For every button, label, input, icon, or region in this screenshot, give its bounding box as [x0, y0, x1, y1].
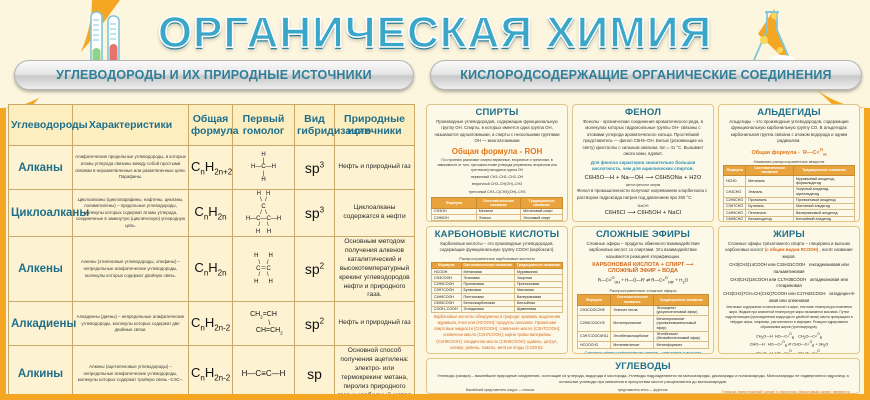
- cell: HCHO: [724, 176, 746, 187]
- table-row: C2H5COOCH3МетилпропаноатМетилпропионат (…: [578, 316, 709, 331]
- table-row: HCHOМетанальМуравьиный альдегид, формаль…: [724, 176, 855, 187]
- cell: Этилацетат (уксусноэтиловый эфир): [654, 305, 709, 316]
- cell-source: Нефть и природный газ: [335, 302, 415, 346]
- cell: C6H5CHO: [724, 216, 746, 222]
- cell-homolog-structure: H—C≡C—H: [233, 346, 295, 400]
- cell-desc: Алифатические предельные углеводороды, в…: [73, 146, 189, 190]
- card-carbohydrates: УГЛЕВОДЫ Углеводы (сахара) – важнейшие п…: [426, 358, 860, 394]
- cell-hybrid: sp3: [295, 146, 335, 190]
- edge-strip-right: [864, 108, 870, 400]
- aldehydes-heading: АЛЬДЕГИДЫ: [723, 107, 855, 118]
- fats-intro: Сложные эфиры трёхатомного спирта – глиц…: [723, 241, 855, 260]
- carbs-fructose-col: представитель кетоз — фруктоза: H H OH |…: [574, 387, 713, 394]
- th-hybrid: Вид гибридизации: [295, 105, 335, 146]
- cell: Этилбензилкарбонат: [611, 331, 654, 342]
- cell-homolog-structure: H H\ /C＝C/ \H H: [233, 237, 295, 302]
- table-row: C6H5CHOБензальдегидБензойный альдегид: [724, 216, 855, 222]
- cell: HCOOCH3: [578, 342, 611, 348]
- th-formula: Общая формула: [189, 105, 233, 146]
- table-row: C3H7OHПропанолПропиловый спирт: [432, 221, 563, 222]
- cell: Метилпропаноат: [611, 316, 654, 331]
- phenol-reaction-condition: NaOH: [577, 203, 709, 208]
- cell: COOH–COOH: [432, 306, 462, 312]
- th-formula: Формула: [578, 294, 611, 305]
- fats-acid-3: CH3(CH2)7CH=CH(CH2)7COOH или C17H33COOH …: [723, 291, 855, 304]
- th-systematic: Систематическое название: [476, 198, 520, 209]
- table-row: COOH–COOHЭтандиоваяЩавелевая: [432, 306, 563, 312]
- table-header-row: Формула Систематическое название Традици…: [432, 198, 563, 209]
- cell: CH3COOC2H5: [578, 305, 611, 316]
- banner-hydrocarbons: УГЛЕВОДОРОДЫ И ИХ ПРИРОДНЫЕ ИСТОЧНИКИ: [14, 60, 414, 90]
- phenol-intro: Фенолы - органические соединения аромати…: [577, 119, 709, 158]
- cell-class: Циклоалканы: [9, 190, 73, 237]
- cell: Метилметаноат: [611, 342, 654, 348]
- hydrocarbons-table: Углеводороды Характеристики Общая формул…: [8, 104, 415, 400]
- card-esters: СЛОЖНЫЕ ЭФИРЫ Сложные эфиры – продукты о…: [572, 226, 714, 354]
- fats-acid-2: CH3(CH2)16COOH или C17H35COOH октадекано…: [723, 277, 855, 290]
- acids-heading: КАРБОНОВЫЕ КИСЛОТЫ: [431, 229, 563, 240]
- th-class: Углеводороды: [9, 105, 73, 146]
- table-row: C3H7COOC5H11ЭтилбензилкарбонатЭтилбензоа…: [578, 331, 709, 342]
- cell: Пропанол: [476, 221, 520, 222]
- cell-hybrid: sp2: [295, 302, 335, 346]
- cell: CH3CHO: [724, 187, 746, 198]
- table-row: CH3CHOЭтанальУксусный альдегид, ацетальд…: [724, 187, 855, 198]
- cell-source: Основной способ получения ацетилена: эле…: [335, 346, 415, 400]
- phenol-highlight: Для фенола характерна значительно больша…: [577, 160, 709, 174]
- phenol-industry: Фенол в промышленности получают нагреван…: [577, 188, 709, 201]
- acids-table: Формула Систематическое название Традици…: [431, 262, 563, 313]
- poster-root: ОРГАНИЧЕСКАЯ ХИМИЯ УГЛЕВОДОРОДЫ И ИХ ПРИ…: [0, 0, 870, 400]
- fats-note: Чем выше содержание остатков кислот в жи…: [723, 305, 855, 330]
- table-row: Циклоалканы Циклоалканы (циклопарафины, …: [9, 190, 415, 237]
- aldehyde-carbonyl-structure: R—C<OH: [801, 150, 826, 156]
- cell: Метилформиат: [654, 342, 709, 348]
- cell-class: Алканы: [9, 146, 73, 190]
- phenol-equation: C6H5O—H + Na—OH ⟶ C6H5ONa + H2O: [577, 175, 709, 181]
- cell: Бензойный альдегид: [794, 216, 855, 222]
- cell-source: Основным методом получения алкенов катал…: [335, 237, 415, 302]
- esterification-structure: R—C<OOH + H—O—R' ⇄ R—C<OOR' + H2O: [577, 276, 709, 286]
- table-row: CH3COOC2H5Этаноат этилаЭтилацетат (уксус…: [578, 305, 709, 316]
- cell-formula: CnH2n: [189, 190, 233, 237]
- carbs-heading: УГЛЕВОДЫ: [431, 361, 855, 372]
- th-systematic: Систематическое название: [746, 165, 794, 176]
- card-phenol: ФЕНОЛ Фенолы - органические соединения а…: [572, 104, 714, 222]
- cell-desc: Алкины (ацетиленовые углеводороды) – неп…: [73, 346, 189, 400]
- cell-formula: CnH2n: [189, 237, 233, 302]
- alcohols-note: По строению различают спирты первичные, …: [431, 158, 563, 173]
- fats-acid-1: CH3(CH2)14COOH или C15H31COOH гексадекан…: [723, 262, 855, 275]
- th-desc: Характеристики: [73, 105, 189, 146]
- cell: C3H7CHO: [724, 204, 746, 210]
- alcohols-example-3: третичный CH3–C(CH3)(OH)–CH3: [431, 190, 563, 195]
- cell: Этаноат этила: [611, 305, 654, 316]
- alcohols-general-formula: Общая формула - ROH: [431, 147, 563, 156]
- table-header-row: Формула Систематическое название Традици…: [724, 165, 855, 176]
- aldehydes-general-formula: Общая формула - R—C<OH: [723, 147, 855, 157]
- cell-homolog-structure: H|H—C—H|H: [233, 146, 295, 190]
- card-fats: ЖИРЫ Сложные эфиры трёхатомного спирта –…: [718, 226, 860, 354]
- esters-scheme-label: КАРБОНОВАЯ КИСЛОТА + СПИРТ ⟶ СЛОЖНЫЙ ЭФИ…: [577, 262, 709, 274]
- cell-desc: Циклоалканы (циклопарафины, нафтены, цик…: [73, 190, 189, 237]
- esters-heading: СЛОЖНЫЕ ЭФИРЫ: [577, 229, 709, 240]
- acids-caption: Распространенные карбоновые кислоты: [431, 256, 563, 261]
- aldehydes-gf-label: Общая формула -: [751, 150, 799, 156]
- esters-table: Формула Систематическое название Традици…: [577, 294, 709, 349]
- cell-class: Алкадиены: [9, 302, 73, 346]
- banner-oxygen-compounds: КИСЛОРОДСОДЕРЖАЩИЕ ОРГАНИЧЕСКИЕ СОЕДИНЕН…: [430, 60, 862, 90]
- alcohols-heading: СПИРТЫ: [431, 107, 563, 118]
- fats-intro-highlight: (с общим видом RCOOH): [765, 247, 818, 252]
- cell-formula: CnH2n-2: [189, 346, 233, 400]
- th-traditional: Традиционное название: [521, 198, 563, 209]
- cell-desc: Алкадиены (диены) – непредельные алифати…: [73, 302, 189, 346]
- cell-hybrid: sp2: [295, 237, 335, 302]
- cell: Этандиовая: [461, 306, 514, 312]
- acids-footer: Карбоновые кислоты обнаружены в природе:…: [431, 314, 563, 351]
- cell-desc: Алкены (этиленовые углеводороды, олефины…: [73, 237, 189, 302]
- alcohols-example-2: вторичный CH3–CH(OH)–CH3: [431, 182, 563, 187]
- carbs-structures: Важнейший представитель альдоз — глюкоза…: [431, 387, 855, 394]
- cell: C3H7OH: [432, 221, 477, 222]
- cell-hybrid: sp3: [295, 190, 335, 237]
- aldehydes-intro: Альдегиды – это производные углеводородо…: [723, 119, 855, 145]
- edge-strip-left: [0, 108, 6, 400]
- edge-strip-bottom: [0, 394, 870, 400]
- carbs-glucose-col: Важнейший представитель альдоз — глюкоза…: [431, 387, 570, 394]
- th-systematic: Систематическое название: [611, 294, 654, 305]
- cell-formula: CnH2n-2: [189, 302, 233, 346]
- fats-acid-formula-1: CH3(CH2)14COOH или C15H31COOH: [729, 262, 805, 267]
- aldehydes-table: Формула Систематическое название Традици…: [723, 165, 855, 222]
- carbs-intro: Углеводы (сахара) – важнейшие природные …: [431, 373, 855, 385]
- card-alcohols: СПИРТЫ Производные углеводородов, содерж…: [426, 104, 568, 222]
- table-row: Алкены Алкены (этиленовые углеводороды, …: [9, 237, 415, 302]
- triglyceride-structure: CH2O—H HO—C<OR CH2O—C<OR CHO—H HO—C<OR ⇄…: [723, 332, 855, 354]
- oxygen-compounds-panel: СПИРТЫ Производные углеводородов, содерж…: [420, 100, 864, 396]
- table-row: Алкадиены Алкадиены (диены) – непредельн…: [9, 302, 415, 346]
- table-row: Алканы Алифатические предельные углеводо…: [9, 146, 415, 190]
- th-formula: Формула: [432, 198, 477, 209]
- fats-heading: ЖИРЫ: [723, 229, 855, 240]
- table-header-row: Формула Систематическое название Традици…: [578, 294, 709, 305]
- phenol-equation-labels: фенол фенолят натрия: [577, 183, 709, 187]
- cell-class: Алкены: [9, 237, 73, 302]
- card-carboxylic-acids: КАРБОНОВЫЕ КИСЛОТЫ Карбоновые кислоты – …: [426, 226, 568, 354]
- cell: C3H7COOC5H11: [578, 331, 611, 342]
- page-title: ОРГАНИЧЕСКАЯ ХИМИЯ: [0, 6, 870, 60]
- cell-homolog-structure: H H\ /C/ \H—C—C—H/ \H H: [233, 190, 295, 237]
- phenol-heading: ФЕНОЛ: [577, 107, 709, 118]
- table-row: HCOOCH3МетилметаноатМетилформиат: [578, 342, 709, 348]
- carbs-highlight-col: Глюкоза (виноградный сахар) и фруктоза (…: [716, 387, 855, 394]
- alcohols-table: Формула Систематическое название Традици…: [431, 197, 563, 222]
- cell-homolog-structure: CH2=CH \ CH=CH2: [233, 302, 295, 346]
- cell: Бензальдегид: [746, 216, 794, 222]
- th-homolog: Первый гомолог: [233, 105, 295, 146]
- table-row: Алкины Алкины (ацетиленовые углеводороды…: [9, 346, 415, 400]
- cell: Пропиловый спирт: [521, 221, 563, 222]
- th-traditional: Традиционное название: [654, 294, 709, 305]
- th-traditional: Традиционное название: [794, 165, 855, 176]
- th-sources: Природные источники: [335, 105, 415, 146]
- cell: Муравьиный альдегид, формальдегид: [794, 176, 855, 187]
- esters-intro: Сложные эфиры – продукты обменного взаим…: [577, 241, 709, 260]
- alcohols-example-1: первичный CH3–CH2–CH2–OH: [431, 175, 563, 180]
- cell-hybrid: sp: [295, 346, 335, 400]
- carbs-right-label: представитель кетоз — фруктоза:: [574, 388, 713, 392]
- aldehydes-caption: Названия распространенных веществ: [723, 159, 855, 164]
- fats-acid-formula-2: CH3(CH2)16COOH или C17H35COOH: [730, 277, 806, 282]
- carbs-left-label: Важнейший представитель альдоз — глюкоза…: [431, 388, 570, 392]
- cell-source: Нефть и природный газ: [335, 146, 415, 190]
- esters-caption: Распространенные сложные эфиры: [577, 288, 709, 293]
- cell: Уксусный альдегид, ацетальдегид: [794, 187, 855, 198]
- cell-class: Алкины: [9, 346, 73, 400]
- cell-formula: CnH2n+2: [189, 146, 233, 190]
- table-header-row: Углеводороды Характеристики Общая формул…: [9, 105, 415, 146]
- cell: Этаналь: [746, 187, 794, 198]
- card-aldehydes: АЛЬДЕГИДЫ Альдегиды – это производные уг…: [718, 104, 860, 222]
- cell: C4H9CHO: [724, 210, 746, 216]
- fats-acid-formula-3: CH3(CH2)7CH=CH(CH2)7COOH или C17H33COOH: [723, 291, 825, 296]
- phenol-reaction: C6H5Cl ⟶ C6H5OH + NaCl: [577, 210, 709, 216]
- esters-footer: Сложные эфиры трёхатомного спирта – глиц…: [577, 351, 709, 354]
- cell: Метилпропионат (пропионовометиловый эфир…: [654, 316, 709, 331]
- acids-intro: Карбоновые кислоты – это производные угл…: [431, 241, 563, 254]
- cell-source: Циклоалканы содержатся в нефти: [335, 190, 415, 237]
- cell: Метаналь: [746, 176, 794, 187]
- cell: Щавелевая: [514, 306, 562, 312]
- cell: C2H5COOCH3: [578, 316, 611, 331]
- th-formula: Формула: [724, 165, 746, 176]
- cell: Этилбензоат (бензойноэтиловый эфир): [654, 331, 709, 342]
- cell: C2H5CHO: [724, 197, 746, 203]
- alcohols-intro: Производные углеводородов, содержащие фу…: [431, 119, 563, 145]
